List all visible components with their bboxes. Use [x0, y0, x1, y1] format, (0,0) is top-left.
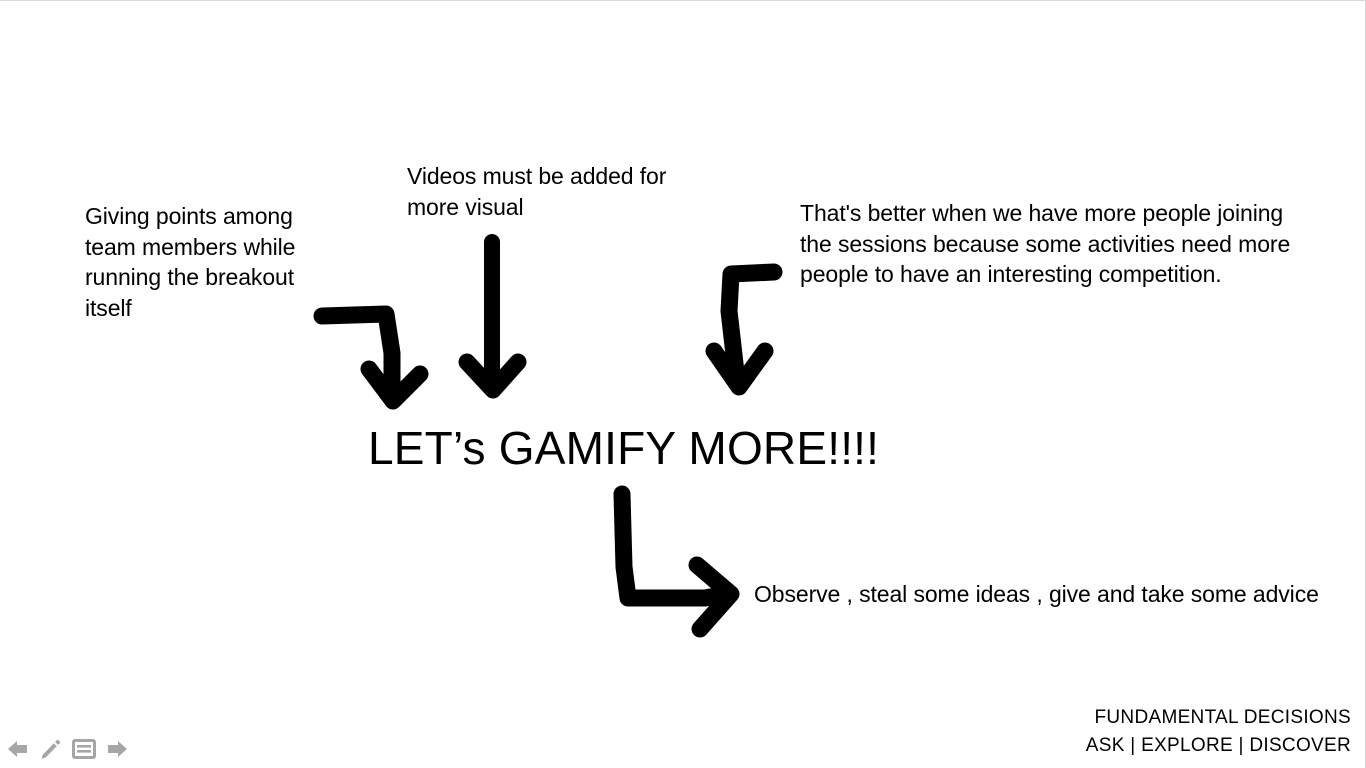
arrow-annotations-layer	[0, 1, 1366, 768]
footer-line-1: FUNDAMENTAL DECISIONS	[1086, 704, 1351, 732]
annotation-note-right: That's better when we have more people j…	[800, 198, 1320, 290]
elbow-arrow-from-right-note	[714, 272, 774, 387]
pen-tool-button[interactable]	[37, 736, 65, 762]
elbow-arrow-from-left-note	[322, 314, 420, 401]
next-slide-button[interactable]	[103, 736, 131, 762]
right-arrow-icon	[105, 738, 129, 760]
straight-arrow-from-top-note	[467, 242, 518, 390]
previous-slide-button[interactable]	[4, 736, 32, 762]
notes-icon	[72, 739, 96, 759]
annotation-note-left: Giving points among team members while r…	[85, 201, 345, 323]
left-arrow-icon	[6, 738, 30, 760]
pencil-icon	[39, 737, 63, 761]
slide-menu-button[interactable]	[70, 736, 98, 762]
footer-branding: FUNDAMENTAL DECISIONS ASK | EXPLORE | DI…	[1086, 704, 1351, 760]
annotation-note-bottom: Observe , steal some ideas , give and ta…	[754, 579, 1366, 609]
presentation-toolbar[interactable]	[4, 736, 131, 762]
presentation-slide: Giving points among team members while r…	[0, 0, 1366, 768]
annotation-note-top: Videos must be added for more visual	[407, 161, 687, 222]
elbow-arrow-to-bottom-note	[622, 494, 731, 629]
footer-line-2: ASK | EXPLORE | DISCOVER	[1086, 732, 1351, 760]
slide-headline: LET’s GAMIFY MORE!!!!	[368, 419, 879, 477]
